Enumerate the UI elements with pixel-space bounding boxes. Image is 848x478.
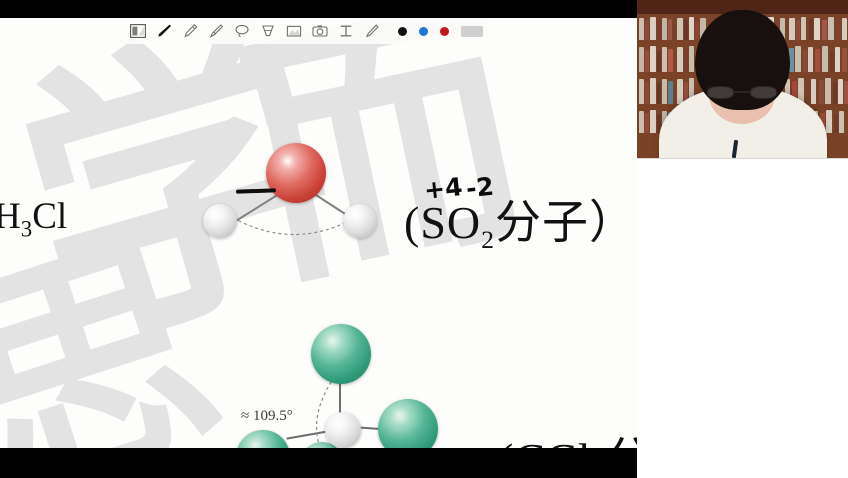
- stroke-width-slider[interactable]: [461, 26, 483, 37]
- glasses-lens-left: [707, 86, 734, 99]
- right-panel: [637, 0, 848, 478]
- label-ch3cl-suffix: Cl: [32, 196, 67, 237]
- teacher-webcam[interactable]: [637, 0, 848, 158]
- eraser-icon[interactable]: [258, 21, 278, 41]
- pointer-pen-icon[interactable]: [362, 21, 382, 41]
- bond-angle-label: ≈ 109.5°: [241, 408, 293, 425]
- color-black[interactable]: [398, 27, 407, 36]
- label-so2-suffix: 分子）: [495, 197, 636, 248]
- atom-sulfur: [266, 143, 326, 203]
- glasses-bridge: [734, 91, 750, 93]
- label-ccl4-suffix: 分: [605, 434, 637, 448]
- label-methyl-chloride: H3Cl: [0, 195, 67, 242]
- atom-oxygen-right: [343, 204, 377, 238]
- label-ccl4-molecule: (CCl4分: [498, 423, 637, 448]
- letterbox-top: [0, 0, 637, 18]
- atom-chlorine-top: [311, 324, 371, 384]
- label-ccl4-l: l: [578, 434, 592, 448]
- atom-oxygen-left: [203, 204, 237, 238]
- slide-canvas[interactable]: 学 而 思: [0, 18, 637, 448]
- annotation-toolbar[interactable]: [0, 18, 637, 44]
- label-ch3cl-prefix: H: [0, 196, 21, 237]
- slide-thumbnail-icon[interactable]: [128, 21, 148, 41]
- atom-chlorine-right: [378, 399, 438, 448]
- oxidation-state-oxygen: -2: [465, 172, 496, 204]
- atom-carbon: [325, 412, 361, 448]
- letterbox-bottom: [0, 448, 637, 478]
- glasses-lens-right: [750, 86, 777, 99]
- lasso-icon[interactable]: [232, 21, 252, 41]
- watermark-char: 思: [0, 215, 243, 448]
- label-so2-o: O: [447, 197, 481, 248]
- glasses-icon: [707, 86, 777, 99]
- oxidation-state-sulfur: +4: [423, 172, 464, 205]
- label-ch3cl-sub: 3: [21, 216, 32, 241]
- shape-icon[interactable]: [284, 21, 304, 41]
- text-icon[interactable]: [336, 21, 356, 41]
- pen-icon[interactable]: [154, 21, 174, 41]
- label-ccl4-open: (CC: [498, 434, 578, 448]
- color-blue[interactable]: [419, 27, 428, 36]
- right-blank-area: [637, 159, 848, 478]
- marker-icon[interactable]: [206, 21, 226, 41]
- camera-icon[interactable]: [310, 21, 330, 41]
- label-so2-sub: 2: [481, 225, 495, 254]
- highlighter-icon[interactable]: [180, 21, 200, 41]
- app-screen: 学 而 思: [0, 0, 848, 478]
- color-red[interactable]: [440, 27, 449, 36]
- slide-area[interactable]: 学 而 思: [0, 0, 637, 478]
